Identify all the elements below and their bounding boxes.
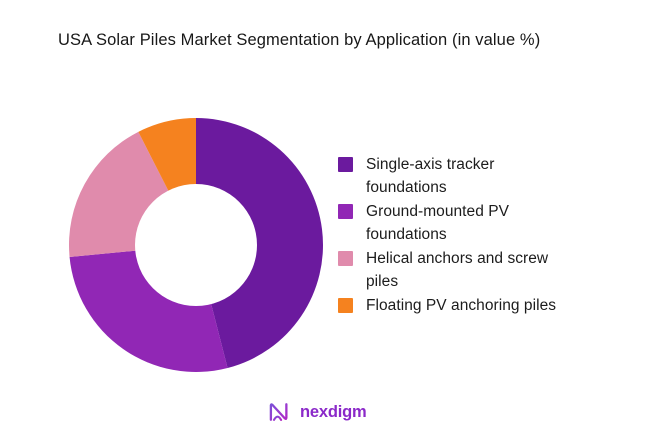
brand-logo: nexdigm (268, 399, 366, 425)
nexdigm-wave-mark-icon (268, 401, 293, 423)
donut-chart (60, 108, 336, 384)
legend-color-swatch (338, 298, 353, 313)
legend-item[interactable]: Helical anchors and screw piles (338, 247, 648, 293)
brand-logo-text: nexdigm (300, 402, 366, 422)
legend-color-swatch (338, 251, 353, 266)
donut-hole (135, 184, 257, 306)
legend-item-label: Single-axis tracker foundations (366, 153, 571, 199)
legend-item[interactable]: Single-axis tracker foundations (338, 153, 648, 199)
chart-legend: Single-axis tracker foundationsGround-mo… (338, 153, 648, 318)
page-title: USA Solar Piles Market Segmentation by A… (58, 28, 578, 52)
legend-item[interactable]: Floating PV anchoring piles (338, 294, 648, 317)
chart-page: USA Solar Piles Market Segmentation by A… (0, 0, 662, 439)
legend-item[interactable]: Ground-mounted PV foundations (338, 200, 648, 246)
legend-item-label: Helical anchors and screw piles (366, 247, 571, 293)
legend-item-label: Floating PV anchoring piles (366, 294, 556, 317)
legend-item-label: Ground-mounted PV foundations (366, 200, 571, 246)
legend-color-swatch (338, 157, 353, 172)
donut-chart-svg (60, 108, 336, 384)
legend-color-swatch (338, 204, 353, 219)
